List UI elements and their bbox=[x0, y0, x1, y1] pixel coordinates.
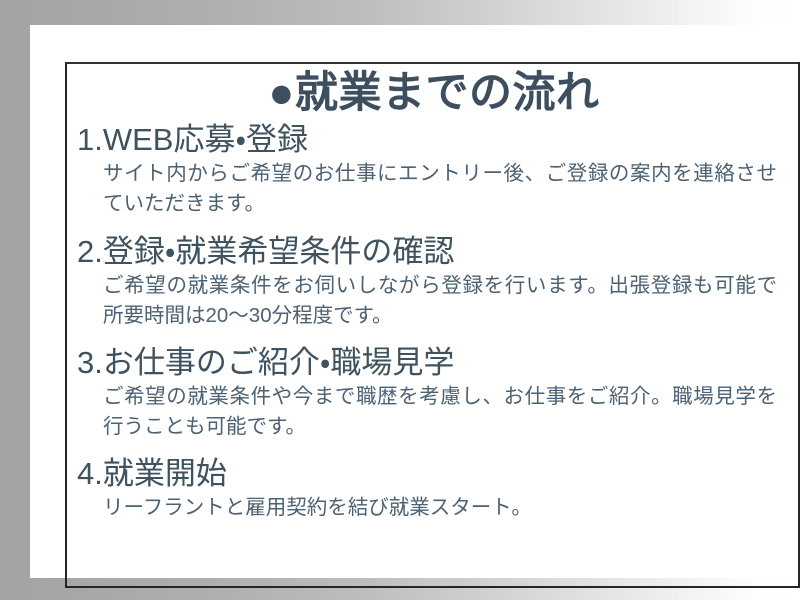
list-item: 3.お仕事のご紹介・職場見学 ご希望の就業条件や今まで職歴を考慮し、お仕事をご紹… bbox=[73, 333, 795, 444]
step-1-body: サイト内からご希望のお仕事にエントリー後、ご登録の案内を連絡させていただきます。 bbox=[73, 159, 795, 217]
list-item: 4.就業開始 リーフラントと雇用契約を結び就業スタート。 bbox=[73, 444, 795, 526]
step-3-heading: 3.お仕事のご紹介・職場見学 bbox=[73, 344, 795, 383]
poster-paper: ●就業までの流れ 1.WEB応募・登録 サイト内からご希望のお仕事にエントリー後… bbox=[30, 25, 800, 578]
poster-content: ●就業までの流れ 1.WEB応募・登録 サイト内からご希望のお仕事にエントリー後… bbox=[73, 65, 795, 585]
step-2-heading: 2.登録・就業希望条件の確認 bbox=[73, 233, 795, 272]
steps-list: 1.WEB応募・登録 サイト内からご希望のお仕事にエントリー後、ご登録の案内を連… bbox=[73, 119, 795, 526]
step-1-heading: 1.WEB応募・登録 bbox=[73, 119, 795, 160]
page-title: ●就業までの流れ bbox=[73, 65, 795, 119]
step-2-body: ご希望の就業条件をお伺いしながら登録を行います。出張登録も可能で所要時間は20〜… bbox=[73, 271, 795, 329]
list-item: 2.登録・就業希望条件の確認 ご希望の就業条件をお伺いしながら登録を行います。出… bbox=[73, 221, 795, 333]
step-4-body: リーフラントと雇用契約を結び就業スタート。 bbox=[73, 493, 795, 522]
list-item: 1.WEB応募・登録 サイト内からご希望のお仕事にエントリー後、ご登録の案内を連… bbox=[73, 119, 795, 221]
poster-stage: ●就業までの流れ 1.WEB応募・登録 サイト内からご希望のお仕事にエントリー後… bbox=[0, 0, 800, 600]
step-3-body: ご希望の就業条件や今まで職歴を考慮し、お仕事をご紹介。職場見学を行うことも可能で… bbox=[73, 382, 795, 440]
step-4-heading: 4.就業開始 bbox=[73, 455, 795, 494]
